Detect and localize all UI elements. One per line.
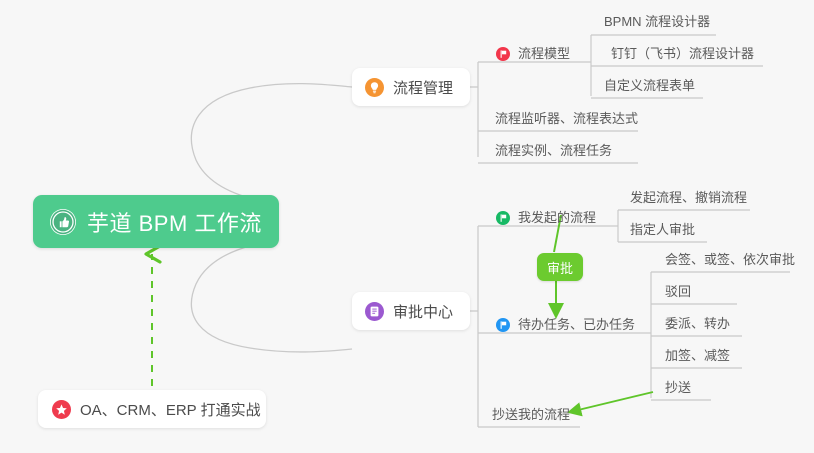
node-cc[interactable]: 抄送 (659, 375, 697, 401)
node-todo-done-tasks-label: 待办任务、已办任务 (518, 312, 635, 338)
node-assignee-approval[interactable]: 指定人审批 (624, 217, 701, 243)
node-todo-done-tasks[interactable]: 待办任务、已办任务 (490, 312, 641, 338)
root-label: 芋道 BPM 工作流 (87, 206, 262, 238)
node-process-model-label: 流程模型 (518, 41, 570, 67)
node-bpmn-designer[interactable]: BPMN 流程设计器 (598, 9, 716, 35)
node-reject-label: 驳回 (665, 279, 691, 305)
wire-root-to-process-management (191, 84, 352, 204)
node-delegate-transfer-label: 委派、转办 (665, 311, 730, 337)
node-listener-expression[interactable]: 流程监听器、流程表达式 (489, 106, 644, 132)
node-start-cancel-label: 发起流程、撤销流程 (630, 185, 747, 211)
node-countersign[interactable]: 会签、或签、依次审批 (659, 247, 801, 273)
node-my-initiated[interactable]: 我发起的流程 (490, 205, 602, 231)
clipboard-icon (365, 302, 384, 321)
arrow-cc-to-my-processes (574, 392, 653, 411)
node-custom-process-form-label: 自定义流程表单 (604, 73, 695, 99)
mindmap-canvas: 芋道 BPM 工作流 流程管理 流程模型 BPMN 流程设计器 钉钉（飞书）流程… (0, 0, 814, 453)
node-add-remove-sign-label: 加签、减签 (665, 343, 730, 369)
node-listener-expression-label: 流程监听器、流程表达式 (495, 106, 638, 132)
root-node[interactable]: 芋道 BPM 工作流 (33, 195, 279, 248)
node-custom-process-form[interactable]: 自定义流程表单 (598, 73, 701, 99)
node-bpmn-designer-label: BPMN 流程设计器 (604, 9, 710, 35)
node-process-model[interactable]: 流程模型 (490, 41, 576, 67)
node-dingtalk-feishu-designer[interactable]: 钉钉（飞书）流程设计器 (605, 41, 760, 67)
node-countersign-label: 会签、或签、依次审批 (665, 247, 795, 273)
node-my-initiated-label: 我发起的流程 (518, 205, 596, 231)
annotation-approval-chip: 审批 (537, 253, 583, 281)
node-instance-task[interactable]: 流程实例、流程任务 (489, 138, 618, 164)
thumbs-up-icon (50, 209, 76, 235)
lightbulb-icon (365, 78, 384, 97)
node-cc-to-me[interactable]: 抄送我的流程 (486, 402, 576, 428)
node-dingtalk-feishu-designer-label: 钉钉（飞书）流程设计器 (611, 41, 754, 67)
branch-process-management-label: 流程管理 (393, 77, 453, 98)
branch-approval-center-label: 审批中心 (393, 301, 453, 322)
flag-icon (496, 47, 510, 61)
annotation-approval-chip-label: 审批 (547, 258, 573, 277)
branch-process-management[interactable]: 流程管理 (352, 68, 470, 106)
flag-icon (496, 211, 510, 225)
node-reject[interactable]: 驳回 (659, 279, 697, 305)
flag-icon (496, 318, 510, 332)
wire-root-to-approval-center (191, 240, 352, 352)
star-icon (52, 400, 71, 419)
node-cc-to-me-label: 抄送我的流程 (492, 402, 570, 428)
node-add-remove-sign[interactable]: 加签、减签 (659, 343, 736, 369)
node-instance-task-label: 流程实例、流程任务 (495, 138, 612, 164)
bottom-card-integration-label: OA、CRM、ERP 打通实战 (80, 399, 261, 420)
node-start-cancel[interactable]: 发起流程、撤销流程 (624, 185, 753, 211)
node-cc-label: 抄送 (665, 375, 691, 401)
branch-approval-center[interactable]: 审批中心 (352, 292, 470, 330)
bottom-card-integration[interactable]: OA、CRM、ERP 打通实战 (38, 390, 266, 428)
node-assignee-approval-label: 指定人审批 (630, 217, 695, 243)
node-delegate-transfer[interactable]: 委派、转办 (659, 311, 736, 337)
